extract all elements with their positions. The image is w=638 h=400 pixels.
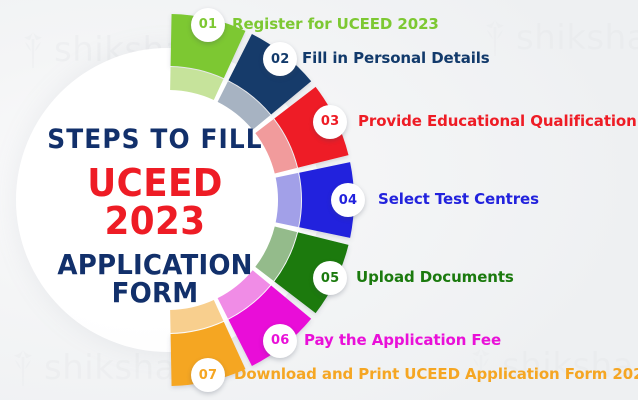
title-line-3: APPLICATION FORM bbox=[42, 251, 267, 307]
step-label-06[interactable]: Pay the Application Fee bbox=[304, 333, 501, 348]
arc-segment-inner-04 bbox=[276, 173, 301, 227]
step-badge-06[interactable]: 06 bbox=[263, 324, 297, 358]
step-label-05[interactable]: Upload Documents bbox=[356, 270, 514, 285]
step-badge-04[interactable]: 04 bbox=[331, 183, 365, 217]
page-title: STEPS TO FILL UCEED 2023 APPLICATION FOR… bbox=[34, 126, 276, 307]
step-badge-01[interactable]: 01 bbox=[191, 8, 225, 42]
step-badge-03[interactable]: 03 bbox=[313, 105, 347, 139]
step-label-01[interactable]: Register for UCEED 2023 bbox=[232, 17, 439, 32]
step-label-04[interactable]: Select Test Centres bbox=[378, 192, 539, 207]
infographic-canvas: shiksha shiksha shiksha shiksha shiksha … bbox=[0, 0, 638, 400]
title-line-1: STEPS TO FILL bbox=[44, 126, 267, 153]
step-label-02[interactable]: Fill in Personal Details bbox=[302, 51, 490, 66]
step-label-03[interactable]: Provide Educational Qualification bbox=[358, 114, 637, 129]
step-label-07[interactable]: Download and Print UCEED Application For… bbox=[234, 367, 638, 382]
title-line-2: UCEED 2023 bbox=[41, 164, 268, 240]
